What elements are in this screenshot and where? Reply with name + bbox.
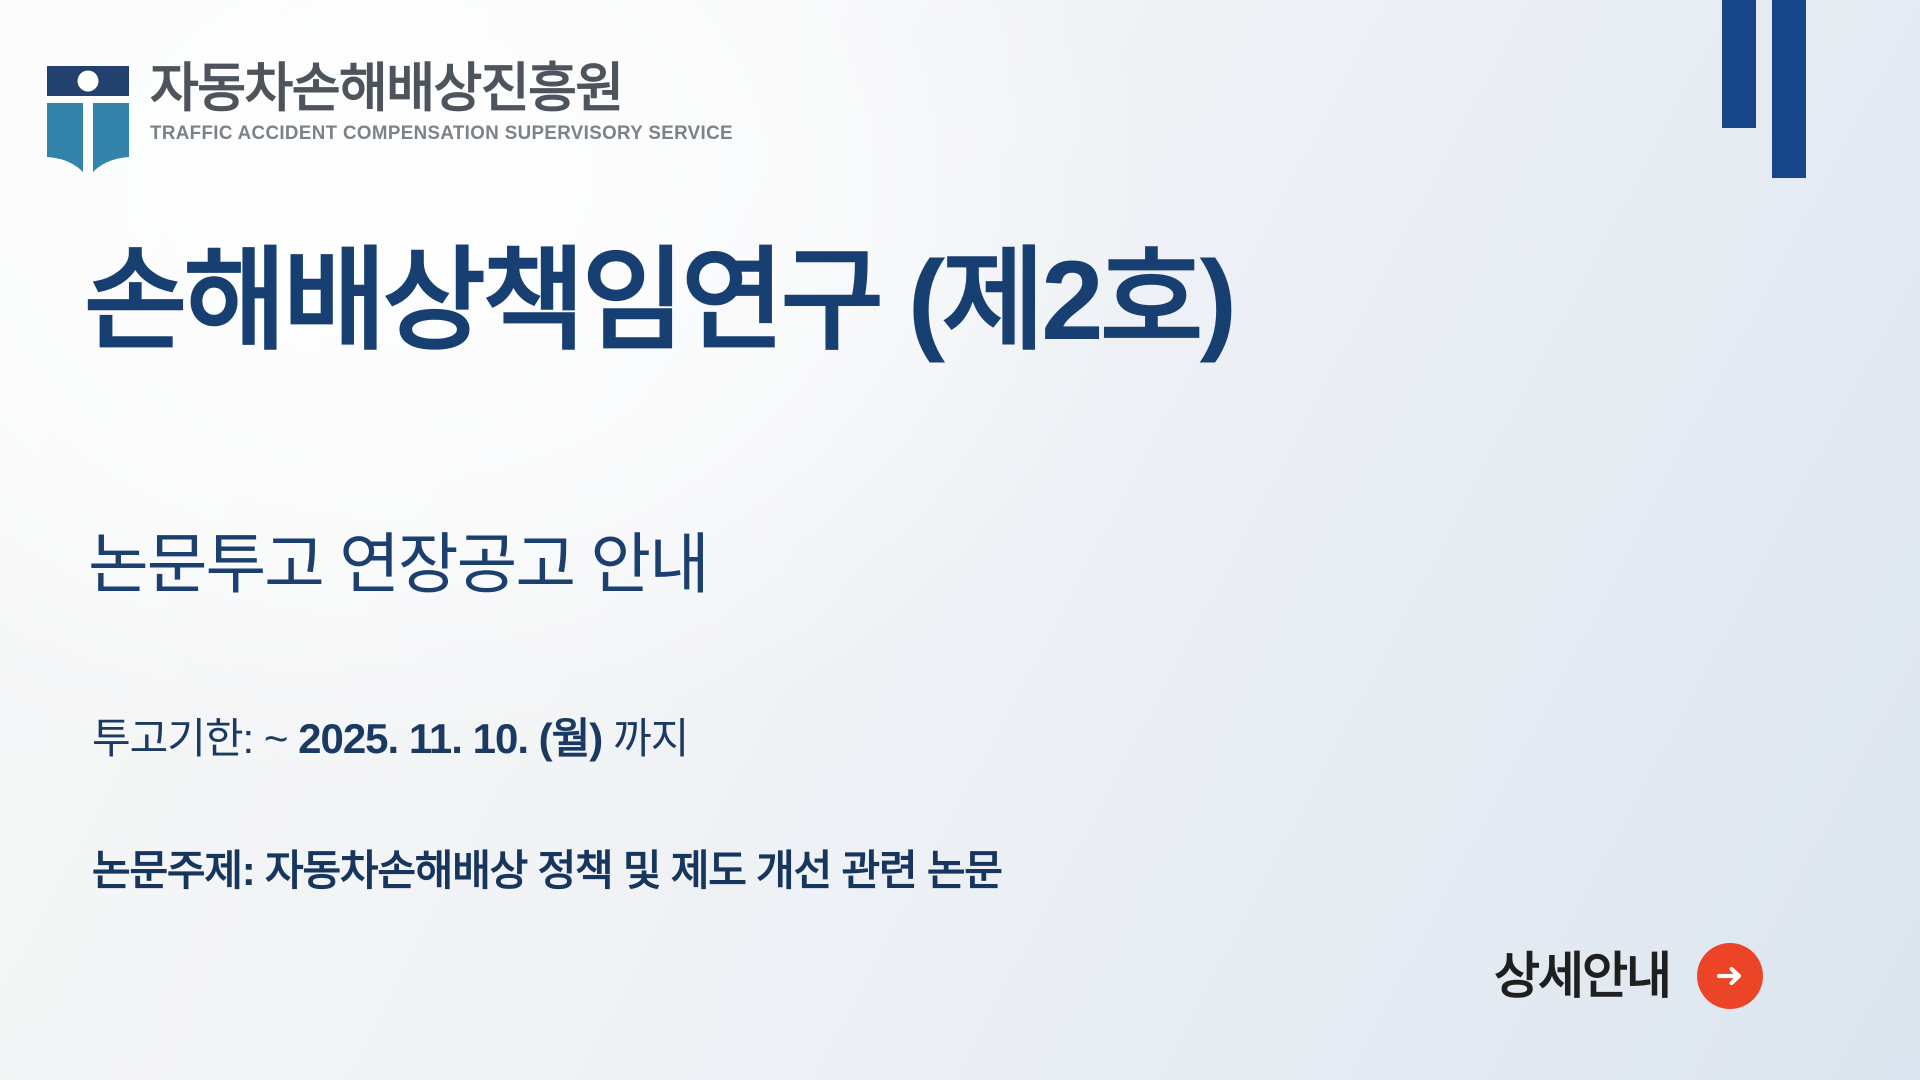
paper-topic: 논문주제: 자동차손해배상 정책 및 제도 개선 관련 논문 — [92, 850, 1002, 892]
deco-bar-tall — [1772, 0, 1806, 178]
logo-korean-name: 자동차손해배상진흥원 — [150, 62, 623, 115]
promo-banner: 자동차손해배상진흥원 TRAFFIC ACCIDENT COMPENSATION… — [0, 0, 1920, 1080]
shield-emblem-icon — [47, 66, 129, 176]
logo-english-name: TRAFFIC ACCIDENT COMPENSATION SUPERVISOR… — [150, 124, 733, 144]
arrow-right-icon[interactable] — [1697, 943, 1763, 1009]
details-cta-button[interactable]: 상세안내 — [1494, 943, 1763, 1009]
page-title: 손해배상책임연구 (제2호) — [84, 245, 1233, 357]
deco-bar-short — [1722, 0, 1756, 128]
details-cta-label: 상세안내 — [1494, 951, 1670, 1001]
decorative-bars — [1722, 0, 1832, 190]
deadline-value: 2025. 11. 10. (월) — [298, 715, 602, 762]
deadline-suffix: 까지 — [602, 715, 688, 762]
submission-deadline: 투고기한: ~ 2025. 11. 10. (월) 까지 — [92, 718, 688, 760]
page-subtitle: 논문투고 연장공고 안내 — [88, 531, 708, 597]
deadline-label: 투고기한: ~ — [92, 715, 298, 762]
organization-logo: 자동차손해배상진흥원 TRAFFIC ACCIDENT COMPENSATION… — [47, 62, 757, 176]
logo-text-block: 자동차손해배상진흥원 TRAFFIC ACCIDENT COMPENSATION… — [150, 62, 757, 144]
